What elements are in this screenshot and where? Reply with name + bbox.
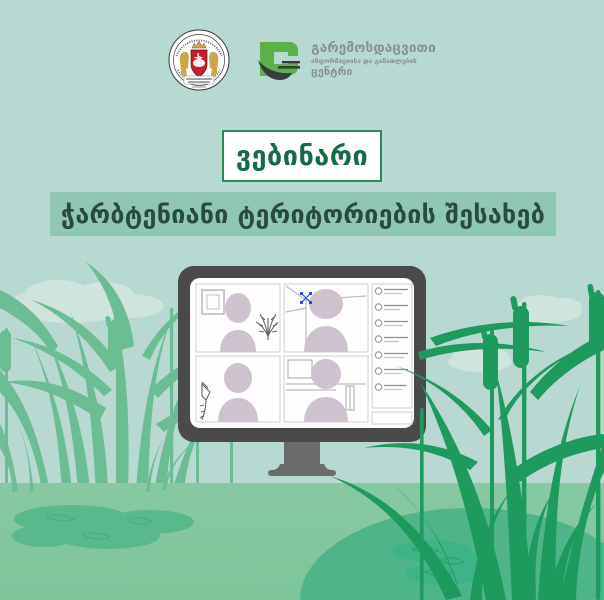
reed-cluster-right-dark [330, 283, 604, 600]
right-dark-reeds-layer [0, 0, 604, 600]
